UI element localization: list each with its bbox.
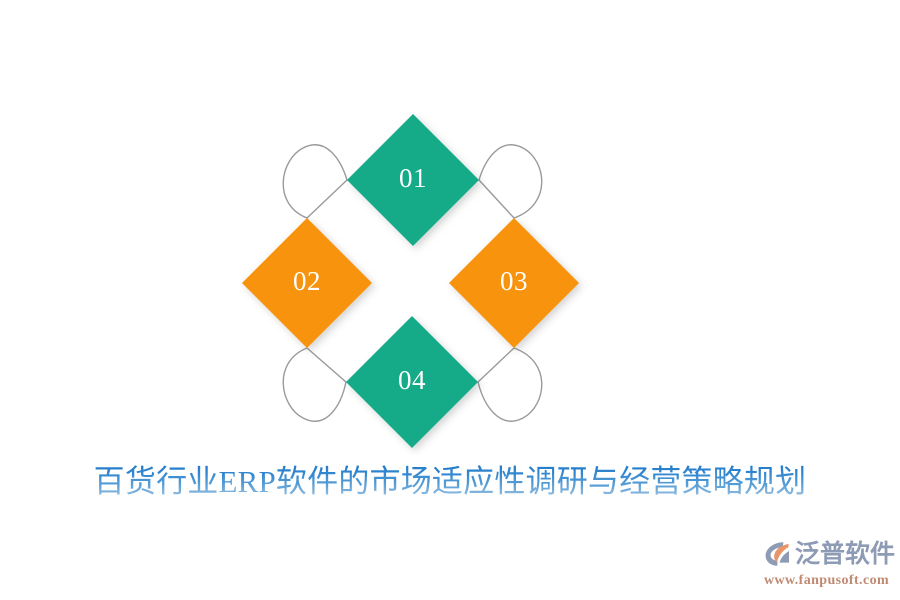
page-title: 百货行业ERP软件的市场适应性调研与经营策略规划 [0, 462, 900, 502]
connector-arc-top-left [283, 145, 347, 218]
node-04[interactable]: 04 [346, 316, 478, 448]
connector-arc-bottom-right [478, 348, 542, 421]
diagram-canvas: 02 03 01 04 [0, 0, 900, 470]
connector-arc-bottom-left [283, 348, 346, 421]
connector-arc-top-right [479, 145, 542, 218]
node-01-label: 01 [399, 163, 427, 193]
connector-line-01-03 [479, 180, 514, 218]
node-04-label: 04 [398, 365, 426, 395]
logo-url: www.fanpusoft.com [764, 573, 894, 589]
fanpu-logo-icon [762, 539, 792, 569]
four-node-diamond-diagram: 02 03 01 04 [0, 0, 900, 470]
logo-wordmark: 泛普软件 [795, 539, 895, 569]
node-03-label: 03 [500, 266, 528, 296]
node-01[interactable]: 01 [347, 114, 479, 246]
connector-line-04-03 [478, 348, 514, 382]
node-02[interactable]: 02 [242, 218, 372, 348]
node-03[interactable]: 03 [449, 218, 579, 348]
watermark-logo: 泛普软件 www.fanpusoft.com [762, 536, 894, 594]
connector-line-01-02 [307, 180, 347, 218]
connector-line-04-02 [307, 348, 346, 382]
node-02-label: 02 [293, 266, 321, 296]
